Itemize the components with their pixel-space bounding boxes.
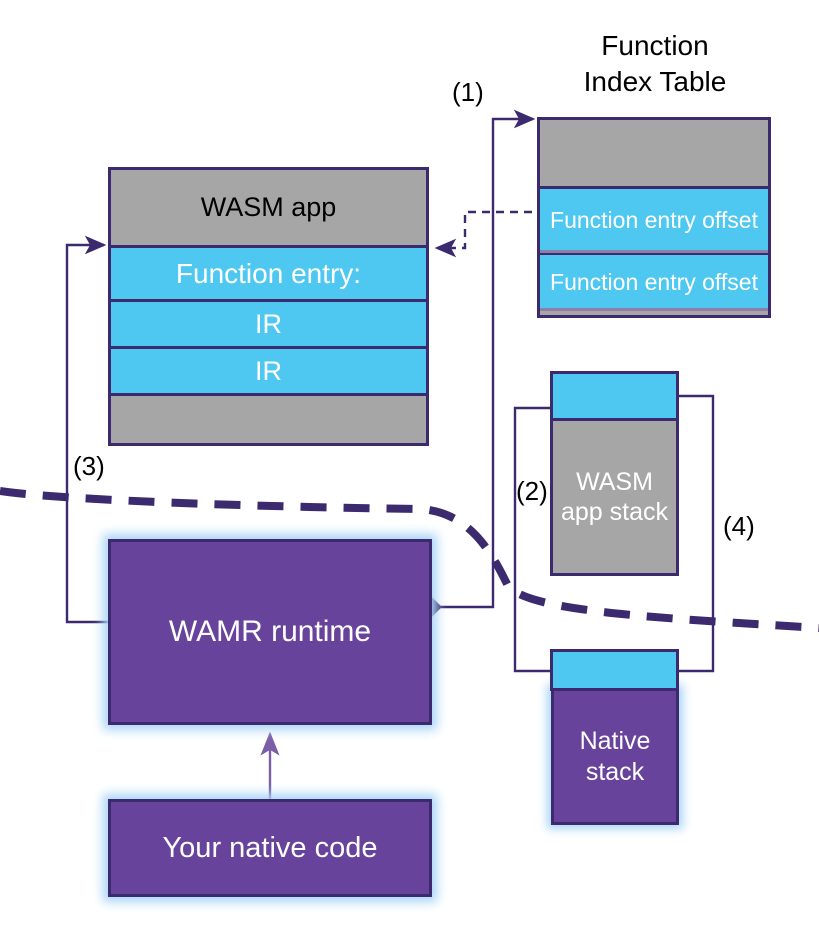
diagram-canvas: Function Index Table Function entry offs… xyxy=(0,0,819,925)
fit-row-empty xyxy=(540,120,768,186)
fit-title-line-1: Function xyxy=(540,28,770,64)
step-label-3: (3) xyxy=(73,451,105,482)
wasm-app-row-ir-2[interactable]: IR xyxy=(111,349,426,396)
fit-row-function-entry-offset-1[interactable]: Function entry offset xyxy=(540,186,768,253)
function-index-table[interactable]: Function entry offset Function entry off… xyxy=(537,117,771,318)
fit-row-function-entry-offset-2[interactable]: Function entry offset xyxy=(540,253,768,311)
your-native-code-block[interactable]: Your native code xyxy=(108,799,432,897)
step-label-1: (1) xyxy=(452,77,484,108)
native-stack-block[interactable]: Native stack xyxy=(551,688,679,825)
step-label-2: (2) xyxy=(516,476,548,507)
wasm-app-stack-frame-band[interactable] xyxy=(553,374,676,421)
native-stack-frame-band[interactable] xyxy=(550,649,679,691)
wamr-runtime-block[interactable]: WAMR runtime xyxy=(108,539,432,725)
fit-title-line-2: Index Table xyxy=(540,64,770,100)
wasm-app-block[interactable]: WASM app Function entry: IR IR xyxy=(108,167,429,446)
wasm-app-title: WASM app xyxy=(111,170,426,245)
wasm-app-row-function-entry[interactable]: Function entry: xyxy=(111,245,426,302)
function-index-table-title: Function Index Table xyxy=(540,28,770,100)
wasm-app-stack-block[interactable]: WASM app stack xyxy=(550,371,679,576)
step-label-4: (4) xyxy=(723,511,755,542)
wasm-app-row-ir-1[interactable]: IR xyxy=(111,302,426,349)
connector-1 xyxy=(432,119,533,607)
connector-3 xyxy=(67,245,108,622)
wasm-app-stack-label: WASM app stack xyxy=(553,421,676,573)
wasm-app-row-empty xyxy=(111,396,426,443)
